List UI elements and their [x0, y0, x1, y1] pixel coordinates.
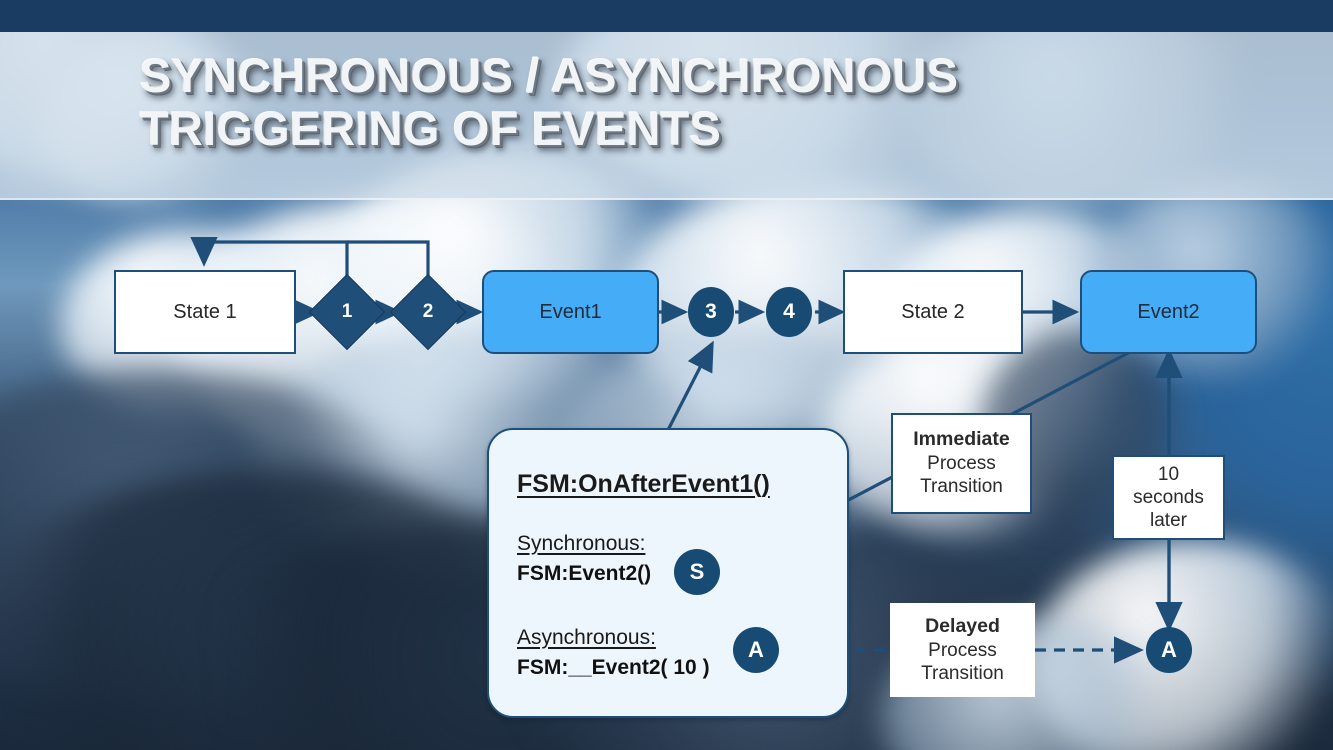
node-event-1[interactable]: Event1: [482, 270, 659, 354]
gate-2-label-wrap: 2: [401, 285, 455, 339]
callout-title: FSM:OnAfterEvent1(): [517, 470, 770, 499]
annotation-immediate-line2: Process: [927, 452, 996, 475]
delayed-marker-label: A: [1161, 637, 1177, 663]
annotation-timer-line1: 10: [1158, 463, 1179, 486]
annotation-timer-line2: seconds: [1133, 486, 1204, 509]
annotation-delayed-line2: Process: [928, 639, 997, 662]
node-event-1-label: Event1: [539, 301, 601, 324]
node-state-1[interactable]: State 1: [114, 270, 296, 354]
step-4-circle[interactable]: 4: [766, 287, 812, 337]
annotation-delayed-line3: Transition: [921, 662, 1004, 685]
delayed-marker-circle[interactable]: A: [1146, 627, 1192, 673]
node-event-2-label: Event2: [1137, 301, 1199, 324]
async-marker-label: A: [748, 637, 764, 663]
annotation-timer-line3: later: [1150, 509, 1187, 532]
sync-marker-label: S: [690, 559, 705, 585]
callout-sync-label: Synchronous:: [517, 532, 645, 556]
annotation-immediate-line3: Transition: [920, 475, 1003, 498]
annotation-timer-10-seconds-later: 10 seconds later: [1112, 455, 1225, 540]
gate-1-label: 1: [342, 301, 353, 323]
node-state-2[interactable]: State 2: [843, 270, 1023, 354]
node-state-2-label: State 2: [901, 301, 964, 324]
annotation-immediate: Immediate Process Transition: [891, 413, 1032, 514]
node-state-1-label: State 1: [173, 301, 236, 324]
sync-marker-circle[interactable]: S: [674, 549, 720, 595]
callout-fsm-onafterevent1[interactable]: FSM:OnAfterEvent1() Synchronous: FSM:Eve…: [487, 428, 849, 718]
slide-canvas: Synchronous / Asynchronous Triggering of…: [0, 0, 1333, 750]
wire-callout-to-step3: [667, 344, 712, 432]
async-marker-circle[interactable]: A: [733, 627, 779, 673]
callout-sync-code: FSM:Event2(): [517, 562, 651, 586]
annotation-delayed: Delayed Process Transition: [890, 603, 1035, 697]
step-3-label: 3: [705, 300, 717, 324]
callout-async-label: Asynchronous:: [517, 626, 656, 650]
gate-2-label: 2: [423, 301, 434, 323]
annotation-immediate-heading: Immediate: [913, 428, 1009, 452]
node-event-2[interactable]: Event2: [1080, 270, 1257, 354]
step-4-label: 4: [783, 300, 795, 324]
step-3-circle[interactable]: 3: [688, 287, 734, 337]
wire-gate2-feedback-join: [347, 242, 428, 285]
annotation-delayed-heading: Delayed: [925, 615, 1000, 639]
gate-1-label-wrap: 1: [320, 285, 374, 339]
callout-async-code: FSM:__Event2( 10 ): [517, 656, 710, 680]
